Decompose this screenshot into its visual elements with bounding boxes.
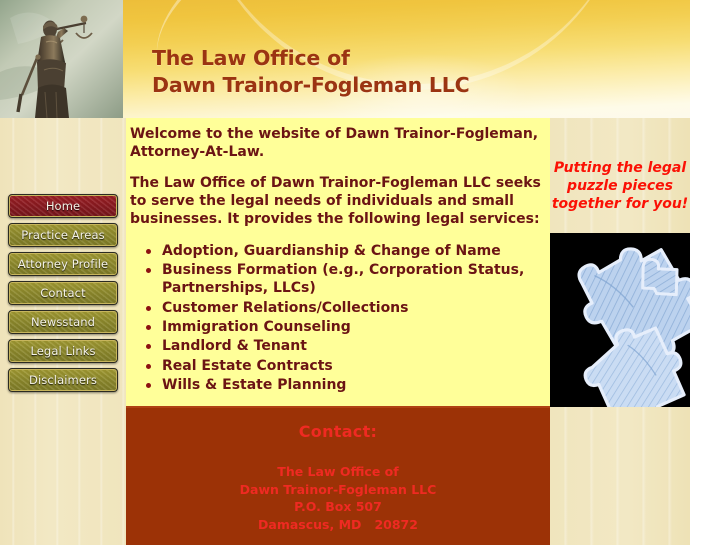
- lady-justice-statue-icon: [0, 0, 123, 118]
- sidebar-item-home[interactable]: Home: [8, 194, 118, 218]
- intro-paragraph-1: Welcome to the website of Dawn Trainor-F…: [130, 126, 544, 162]
- jigsaw-puzzle-pieces-icon: [550, 233, 690, 407]
- list-item: Immigration Counseling: [144, 318, 550, 336]
- sidebar-item-legal-links[interactable]: Legal Links: [8, 339, 118, 363]
- sidebar-item-label: Home: [9, 195, 117, 217]
- list-item: Landlord & Tenant: [144, 337, 550, 355]
- sidebar-item-practice-areas[interactable]: Practice Areas: [8, 223, 118, 247]
- sidebar-item-label: Practice Areas: [9, 224, 117, 246]
- left-sidebar: Home Practice Areas Attorney Profile Con…: [0, 118, 126, 545]
- page-root: The Law Office of Dawn Trainor-Fogleman …: [0, 0, 727, 545]
- tagline: Putting the legal puzzle pieces together…: [550, 160, 690, 214]
- list-item: Real Estate Contracts: [144, 357, 550, 375]
- contact-section: Contact: The Law Office of Dawn Trainor-…: [126, 406, 550, 545]
- list-item: Business Formation (e.g., Corporation St…: [144, 261, 550, 298]
- main-navigation: Home Practice Areas Attorney Profile Con…: [8, 194, 118, 397]
- tagline-line-2: puzzle pieces: [567, 178, 673, 194]
- site-header: The Law Office of Dawn Trainor-Fogleman …: [0, 0, 690, 118]
- contact-address-line-2: Dawn Trainor-Fogleman LLC: [126, 481, 550, 499]
- intro-paragraph-2: The Law Office of Dawn Trainor-Fogleman …: [130, 175, 544, 229]
- list-item: Wills & Estate Planning: [144, 376, 550, 394]
- list-item: Adoption, Guardianship & Change of Name: [144, 242, 550, 260]
- contact-address: The Law Office of Dawn Trainor-Fogleman …: [126, 463, 550, 533]
- tagline-line-1: Putting the legal: [554, 160, 686, 176]
- right-sidebar: Putting the legal puzzle pieces together…: [550, 118, 690, 545]
- contact-address-line-4: Damascus, MD 20872: [126, 516, 550, 534]
- page-title-line-1: The Law Office of: [152, 45, 572, 72]
- sidebar-item-attorney-profile[interactable]: Attorney Profile: [8, 252, 118, 276]
- sidebar-item-newsstand[interactable]: Newsstand: [8, 310, 118, 334]
- services-list: Adoption, Guardianship & Change of Name …: [144, 242, 550, 395]
- sidebar-item-label: Contact: [9, 282, 117, 304]
- page-body: Home Practice Areas Attorney Profile Con…: [0, 118, 690, 545]
- sidebar-item-disclaimers[interactable]: Disclaimers: [8, 368, 118, 392]
- list-item: Customer Relations/Collections: [144, 299, 550, 317]
- sidebar-item-label: Legal Links: [9, 340, 117, 362]
- sidebar-item-contact[interactable]: Contact: [8, 281, 118, 305]
- contact-heading: Contact:: [126, 422, 550, 441]
- tagline-line-3: together for you!: [552, 196, 688, 212]
- page-title-line-2: Dawn Trainor-Fogleman LLC: [152, 72, 572, 99]
- main-content: Welcome to the website of Dawn Trainor-F…: [126, 118, 550, 545]
- sidebar-item-label: Attorney Profile: [9, 253, 117, 275]
- sidebar-item-label: Newsstand: [9, 311, 117, 333]
- sidebar-item-label: Disclaimers: [9, 369, 117, 391]
- contact-address-line-1: The Law Office of: [126, 463, 550, 481]
- contact-address-line-3: P.O. Box 507: [126, 498, 550, 516]
- content-text-block: Welcome to the website of Dawn Trainor-F…: [126, 118, 550, 229]
- page-title: The Law Office of Dawn Trainor-Fogleman …: [152, 45, 572, 100]
